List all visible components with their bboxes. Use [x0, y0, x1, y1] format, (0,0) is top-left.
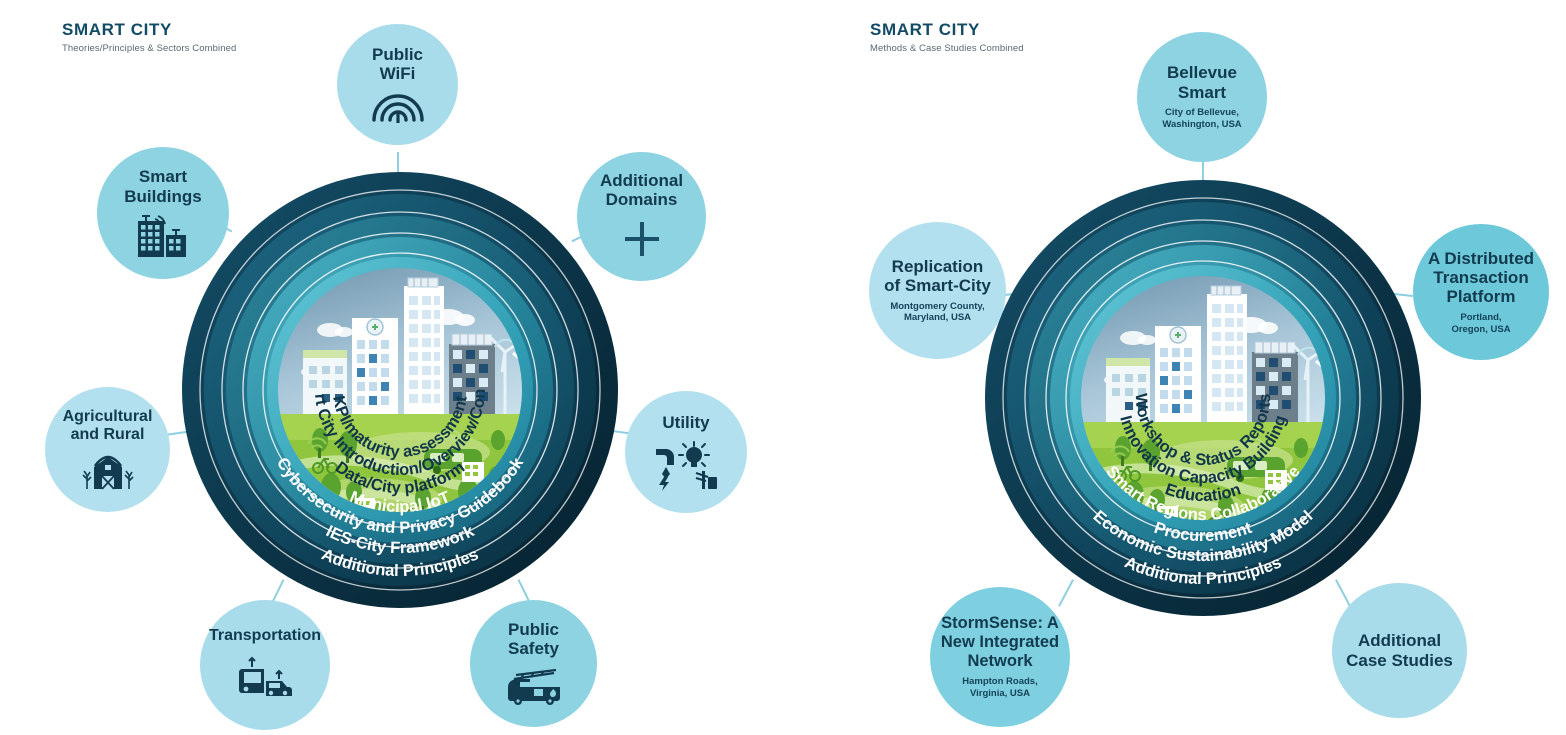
bubble-title: SmartBuildings: [124, 167, 201, 206]
bubble-public-wifi[interactable]: PublicWiFi: [337, 24, 458, 145]
bubble-additional-domains[interactable]: AdditionalDomains: [577, 152, 706, 281]
bubble-subtitle: City of Bellevue,Washington, USA: [1162, 107, 1241, 131]
bubble-subtitle: Montgomery County,Maryland, USA: [890, 301, 984, 325]
bubble-additional-case-studies[interactable]: AdditionalCase Studies: [1332, 583, 1467, 718]
bubble-title: AdditionalCase Studies: [1346, 631, 1453, 670]
bubble-title: StormSense: ANew IntegratedNetwork: [941, 614, 1059, 670]
bubble-title: A DistributedTransactionPlatform: [1428, 249, 1534, 307]
vehicles-icon: [232, 653, 298, 703]
bubble-distributed-transaction-platform[interactable]: A DistributedTransactionPlatform Portlan…: [1413, 224, 1549, 360]
panel-methods-case-studies: SMART CITY Methods & Case Studies Combin…: [783, 0, 1566, 735]
bubble-subtitle: Hampton Roads,Virginia, USA: [962, 676, 1037, 700]
utility-icon: [650, 439, 722, 491]
bubble-utility[interactable]: Utility: [625, 391, 747, 513]
plus-icon: [619, 216, 665, 262]
bubble-title: PublicWiFi: [372, 45, 423, 84]
bubble-smart-buildings[interactable]: SmartBuildings: [97, 147, 229, 279]
bubble-title: AdditionalDomains: [600, 171, 683, 210]
bubble-title: BellevueSmart: [1167, 63, 1237, 102]
bubble-title: Agriculturaland Rural: [63, 408, 153, 444]
firetruck-icon: [500, 665, 568, 707]
wifi-icon: [370, 90, 426, 124]
bubble-bellevue-smart[interactable]: BellevueSmart City of Bellevue,Washingto…: [1137, 32, 1267, 162]
bubble-stormsense[interactable]: StormSense: ANew IntegratedNetwork Hampt…: [930, 587, 1070, 727]
bubble-transportation[interactable]: Transportation: [200, 600, 330, 730]
bubble-title: Utility: [662, 413, 709, 432]
panel-theories-principles: SMART CITY Theories/Principles & Sectors…: [0, 0, 783, 735]
bubble-title: Replicationof Smart-City: [884, 257, 991, 296]
bubble-title: PublicSafety: [508, 620, 559, 659]
buildings-icon: [132, 213, 194, 259]
barn-icon: [77, 451, 139, 491]
bubble-replication-smart-city[interactable]: Replicationof Smart-City Montgomery Coun…: [869, 222, 1006, 359]
infographic-page: SMART CITY Theories/Principles & Sectors…: [0, 0, 1566, 735]
bubble-public-safety[interactable]: PublicSafety: [470, 600, 597, 727]
bubble-title: Transportation: [209, 627, 321, 645]
bubble-agricultural-rural[interactable]: Agriculturaland Rural: [45, 387, 170, 512]
bubble-subtitle: Portland,Oregon, USA: [1451, 312, 1510, 336]
